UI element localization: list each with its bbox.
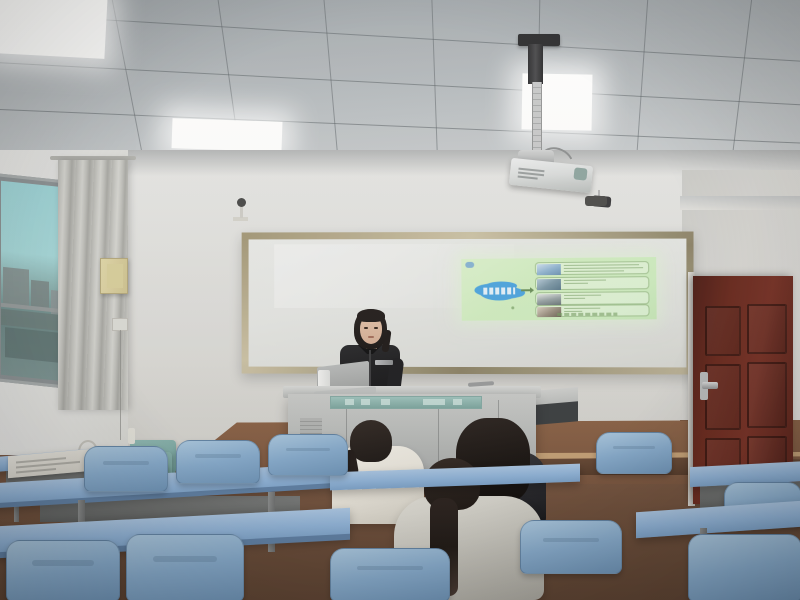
slide-cloud-label <box>483 287 515 294</box>
chair[interactable] <box>176 440 260 484</box>
panel-light-left <box>0 0 107 59</box>
chair[interactable] <box>268 434 348 476</box>
projector-lens <box>573 167 587 180</box>
door-handle[interactable] <box>702 382 718 389</box>
slide-row <box>535 261 649 275</box>
chair[interactable] <box>330 548 450 600</box>
slide-thumbnail-1 <box>537 264 561 275</box>
slide-text-lines <box>564 279 645 287</box>
door-panel <box>705 364 741 430</box>
wall-speaker <box>100 258 128 294</box>
presenter-mouth <box>368 336 374 338</box>
chair[interactable] <box>520 520 622 574</box>
chair[interactable] <box>126 534 244 600</box>
chair[interactable] <box>596 432 672 474</box>
presenter-jacket-logo <box>375 360 393 365</box>
chair[interactable] <box>6 540 120 600</box>
wall-camera-arm <box>240 206 243 218</box>
panel-light-center <box>172 118 283 152</box>
slide-logo-icon <box>465 262 474 268</box>
ceiling-right-edge <box>680 196 800 210</box>
slide-text-lines <box>564 294 645 302</box>
whiteboard-sensor-icon <box>585 196 607 206</box>
door-panel <box>747 362 787 428</box>
classroom-scene <box>0 0 800 600</box>
chair[interactable] <box>84 446 168 492</box>
wall-wire <box>120 330 121 440</box>
projector-mount-box <box>528 44 543 84</box>
door-panel <box>747 304 787 354</box>
projected-slide <box>461 257 656 321</box>
slide-thumbnail-2 <box>537 279 561 290</box>
door-panel <box>705 306 741 356</box>
slide-row <box>535 276 649 290</box>
wall-camera-icon <box>237 198 246 207</box>
lectern-control-panel[interactable] <box>330 396 482 409</box>
slide-thumbnail-3 <box>537 294 561 305</box>
speaker-grille <box>107 264 123 288</box>
chair[interactable] <box>688 534 800 600</box>
bottle-on-stool <box>128 428 135 444</box>
presenter-hair-fringe <box>357 309 385 322</box>
slide-footer-text <box>557 313 617 316</box>
slide-row <box>535 291 649 305</box>
student-left-hair <box>350 420 392 462</box>
projector-pole <box>532 82 542 154</box>
slide-text-lines <box>564 264 645 272</box>
slide-arrow-icon <box>521 289 531 291</box>
slide-bullet-dot <box>511 306 514 309</box>
